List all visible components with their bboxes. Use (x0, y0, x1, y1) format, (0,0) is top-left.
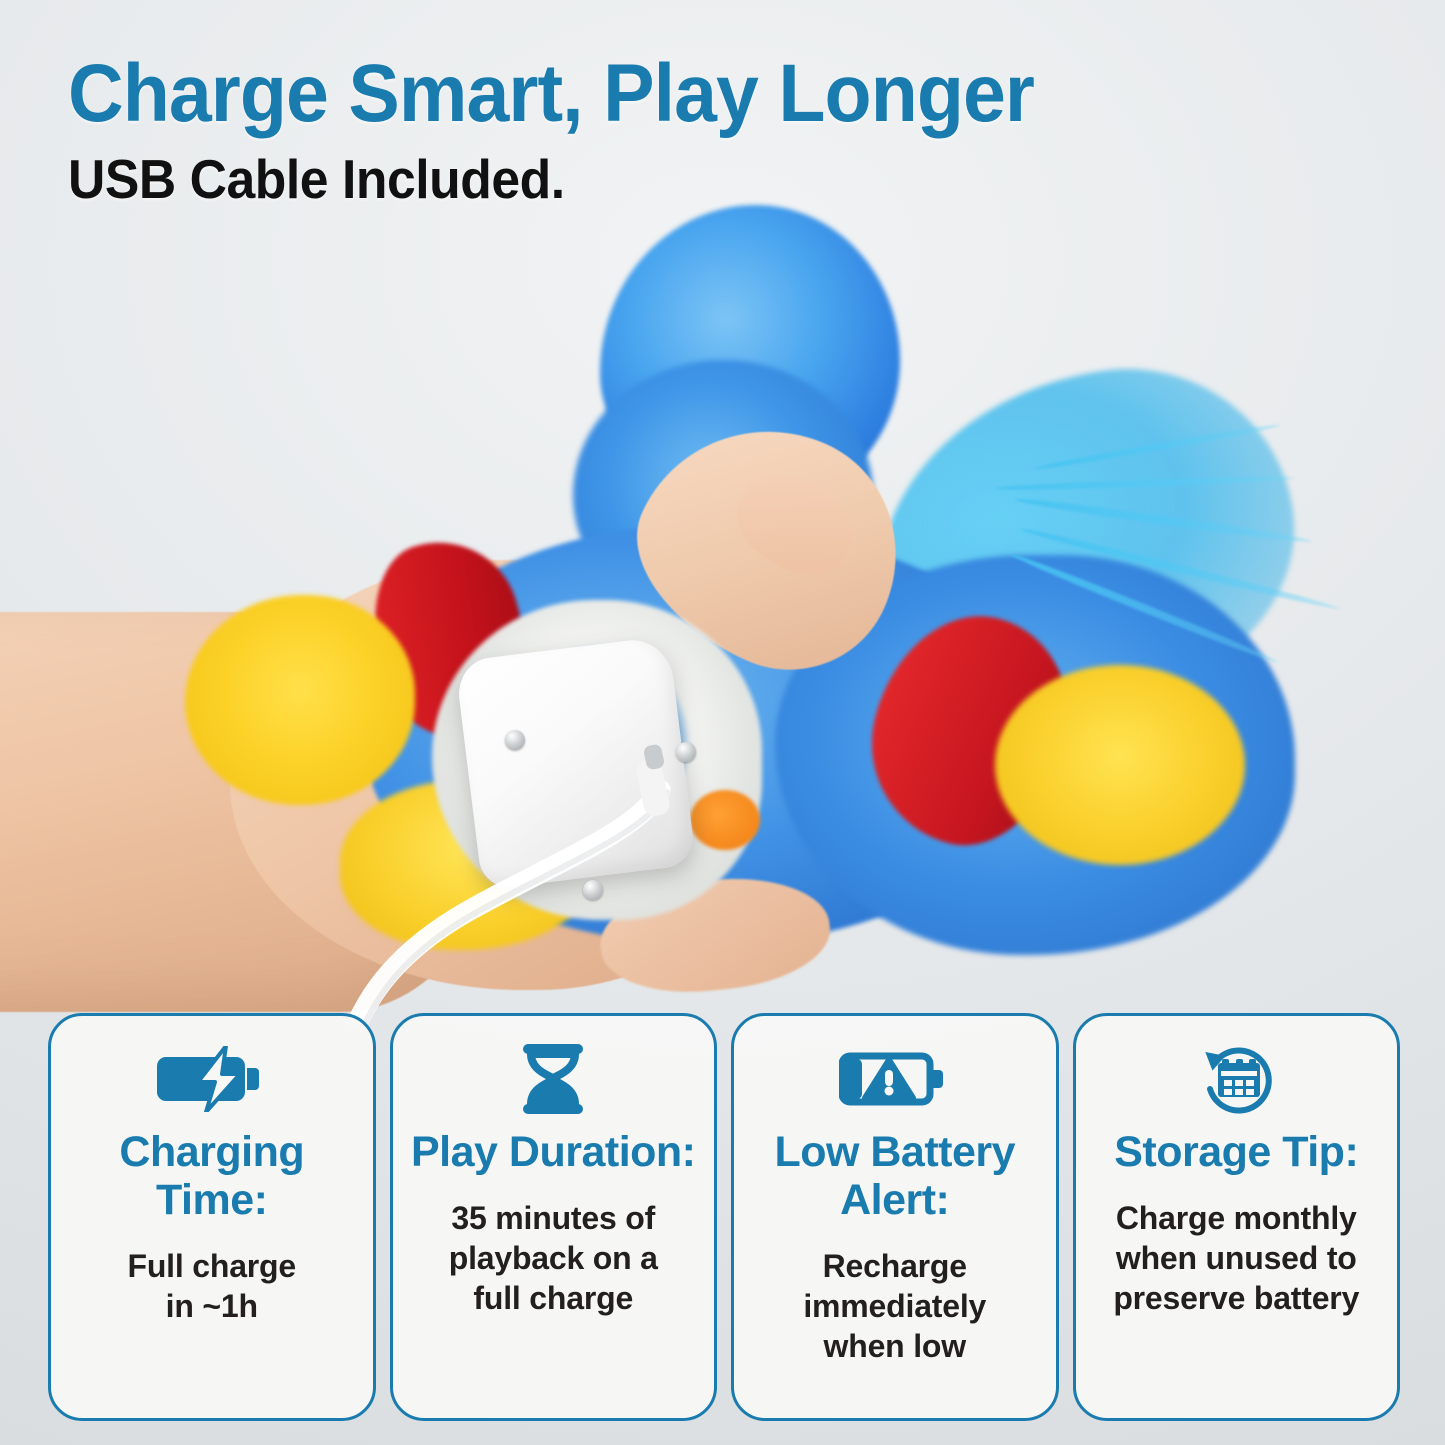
page-title: Charge Smart, Play Longer (68, 52, 1290, 136)
toy-yellow-fur-left (185, 595, 415, 805)
card-title: Storage Tip: (1114, 1128, 1358, 1176)
battery-low-alert-icon (839, 1042, 951, 1116)
card-body-line: when unused to (1113, 1238, 1359, 1278)
infographic-page: Charge Smart, Play Longer USB Cable Incl… (0, 0, 1445, 1445)
card-body-line: when low (803, 1326, 986, 1366)
card-title: Low Battery Alert: (748, 1128, 1042, 1224)
card-title: Play Duration: (411, 1128, 696, 1176)
card-body-line: full charge (449, 1278, 658, 1318)
motor-housing (455, 636, 696, 890)
card-body: Recharge immediately when low (803, 1246, 986, 1366)
feature-card-play-duration[interactable]: Play Duration: 35 minutes of playback on… (390, 1013, 718, 1421)
card-body: Full charge in ~1h (127, 1246, 296, 1326)
battery-charging-icon (154, 1042, 270, 1116)
housing-screw (676, 742, 696, 762)
card-body-line: preserve battery (1113, 1278, 1359, 1318)
toy-yellow-fur-right (995, 665, 1245, 865)
card-body-line: in ~1h (127, 1286, 296, 1326)
toy-orange-beak (690, 790, 760, 850)
card-body-line: Full charge (127, 1246, 296, 1286)
header: Charge Smart, Play Longer USB Cable Incl… (68, 52, 1368, 208)
calendar-refresh-icon (1194, 1042, 1278, 1116)
feature-card-storage-tip[interactable]: Storage Tip: Charge monthly when unused … (1073, 1013, 1401, 1421)
card-body-line: Recharge (803, 1246, 986, 1286)
card-body-line: playback on a (449, 1238, 658, 1278)
page-subtitle: USB Cable Included. (68, 150, 1290, 208)
card-body-line: Charge monthly (1113, 1198, 1359, 1238)
feature-card-low-battery-alert[interactable]: Low Battery Alert: Recharge immediately … (731, 1013, 1059, 1421)
feature-card-charging-time[interactable]: Charging Time: Full charge in ~1h (48, 1013, 376, 1421)
hourglass-icon (517, 1042, 589, 1116)
card-body-line: 35 minutes of (449, 1198, 658, 1238)
card-title: Charging Time: (65, 1128, 359, 1224)
card-body: 35 minutes of playback on a full charge (449, 1198, 658, 1318)
card-body-line: immediately (803, 1286, 986, 1326)
feature-cards: Charging Time: Full charge in ~1h Play D… (48, 1013, 1400, 1421)
card-body: Charge monthly when unused to preserve b… (1113, 1198, 1359, 1318)
housing-screw (583, 880, 603, 900)
housing-screw (505, 730, 525, 750)
